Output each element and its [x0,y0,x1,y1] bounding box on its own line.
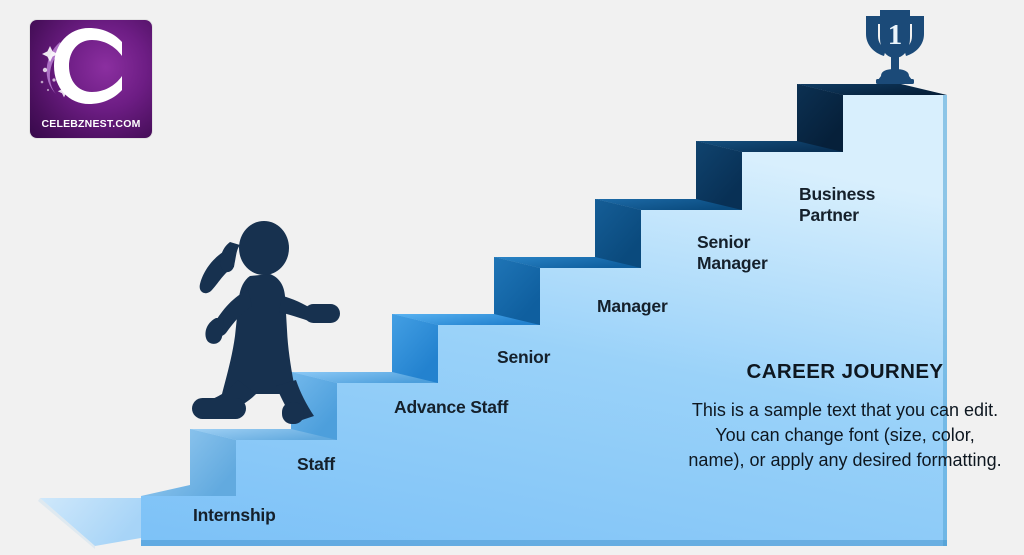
logo-wordmark: CELEBZNEST.COM [30,118,152,130]
step-label-business-partner: Business Partner [799,184,875,225]
career-journey-body-text: This is a sample text that you can edit.… [686,398,1004,472]
trophy-icon: 1 [856,4,934,86]
step-label-advance-staff: Advance Staff [394,397,508,418]
step-label-staff: Staff [297,454,335,475]
career-journey-title: CAREER JOURNEY [700,360,990,384]
step-1-riser [141,429,236,496]
climbing-person-icon [178,218,342,424]
trophy-rank-number: 1 [888,19,903,51]
staircase-baseline [141,540,947,546]
celebznest-logo[interactable]: CELEBZNEST.COM [30,20,152,138]
step-label-internship: Internship [193,505,276,526]
step-label-senior: Senior [497,347,550,368]
top-column-edge [943,95,947,546]
step-label-manager: Manager [597,296,668,317]
career-journey-infographic: Internship Staff Advance Staff Senior Ma… [0,0,1024,555]
logo-c-glyph [30,22,152,110]
step-label-senior-manager: Senior Manager [697,232,768,273]
floor-plane [40,498,141,546]
